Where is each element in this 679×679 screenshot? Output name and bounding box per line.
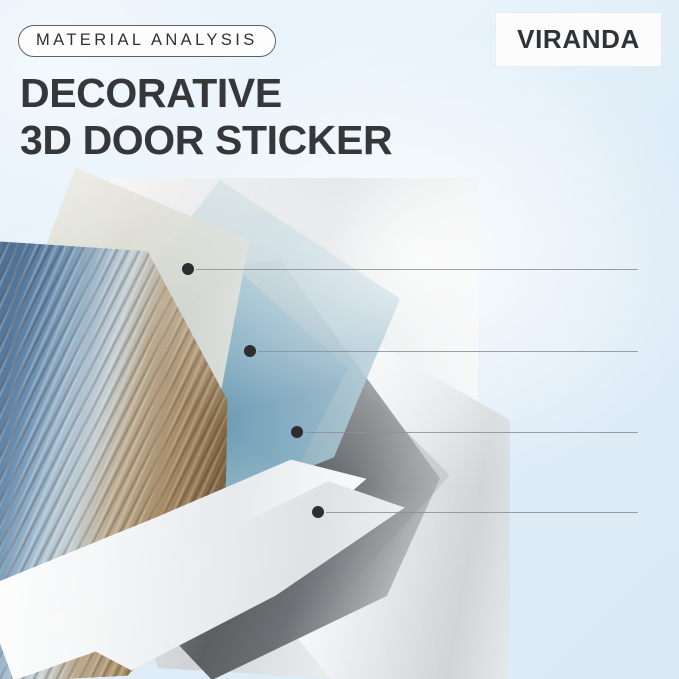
callout-dot-1 (182, 263, 194, 275)
poster-canvas: MATERIAL ANALYSIS DECORATIVE 3D DOOR STI… (0, 0, 679, 679)
page-title-line-1: DECORATIVE (20, 70, 282, 116)
callout-rule-4 (326, 512, 638, 513)
callout-dot-3 (291, 426, 303, 438)
callout-rule-1 (196, 269, 638, 270)
callout-rule-3 (305, 432, 638, 433)
brand-logo: VIRANDA (496, 13, 661, 66)
callout-dot-4 (312, 506, 324, 518)
page-title-line-2: 3D DOOR STICKER (20, 117, 392, 164)
sticker-artwork (0, 150, 470, 679)
brand-logo-text: VIRANDA (517, 24, 640, 55)
material-analysis-badge: MATERIAL ANALYSIS (18, 25, 276, 57)
page-title: DECORATIVE 3D DOOR STICKER (20, 70, 392, 164)
callout-dot-2 (244, 345, 256, 357)
callout-rule-2 (258, 351, 638, 352)
